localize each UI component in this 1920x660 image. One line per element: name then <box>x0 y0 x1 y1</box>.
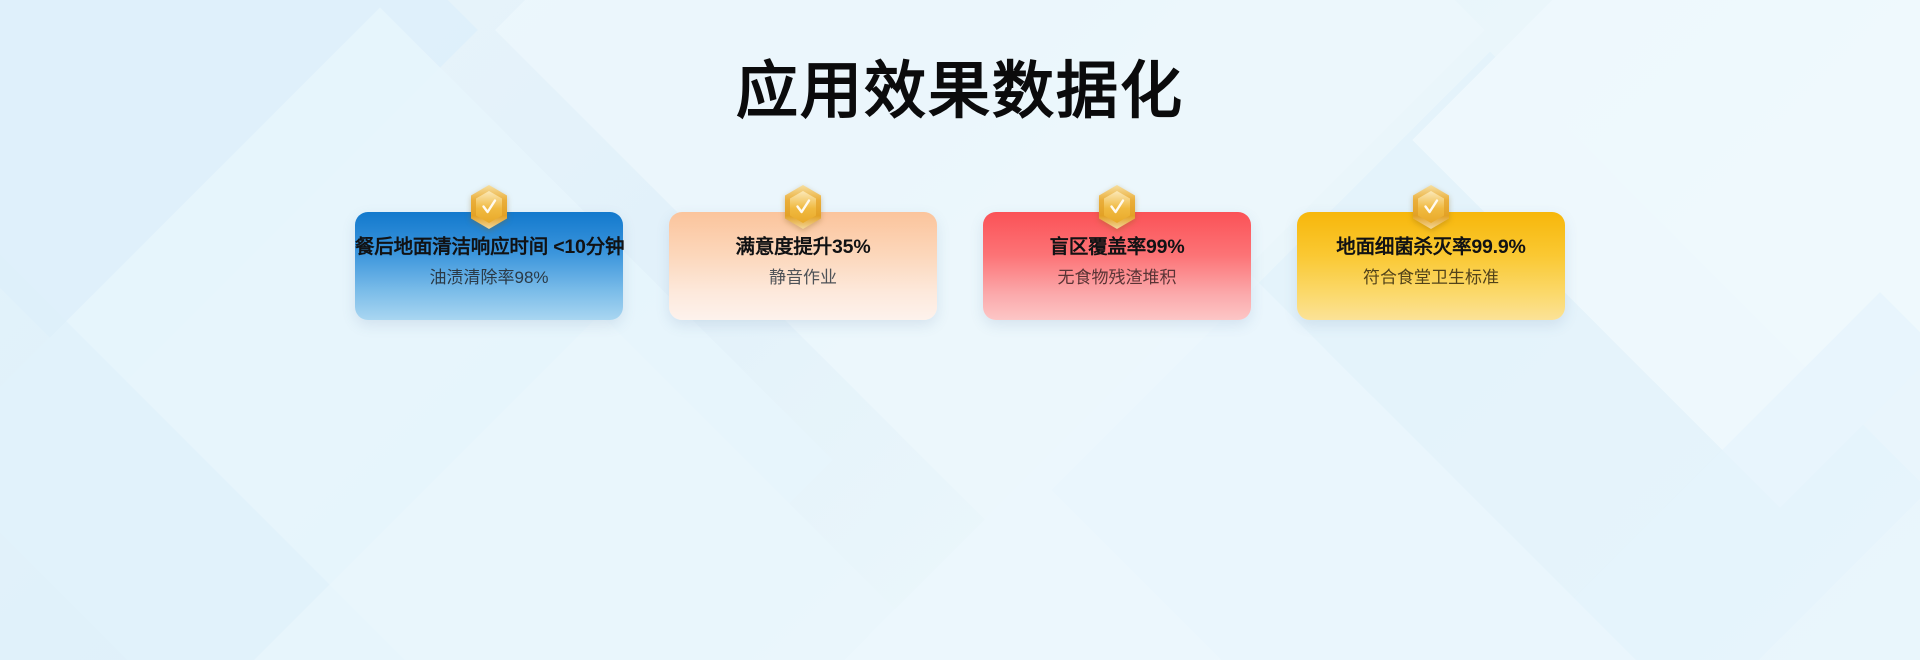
hexagon-check-icon <box>469 184 509 230</box>
hexagon-check-icon <box>783 184 823 230</box>
stat-card-subtitle: 油渍清除率98% <box>355 266 623 290</box>
hexagon-check-icon <box>1411 184 1451 230</box>
background-rhombus <box>1052 52 1920 660</box>
stat-card-title: 地面细菌杀灭率99.9% <box>1297 234 1565 260</box>
stat-card-title: 满意度提升35% <box>669 234 937 260</box>
background-rhombus <box>1512 292 1920 660</box>
stat-card-row: 餐后地面清洁响应时间 <10分钟 油渍清除率98% 满意度提升35% 静音作业 <box>0 212 1920 320</box>
stat-card-subtitle: 符合食堂卫生标准 <box>1297 266 1565 290</box>
stat-card-response-time[interactable]: 餐后地面清洁响应时间 <10分钟 油渍清除率98% <box>355 212 623 320</box>
hexagon-check-icon <box>1097 184 1137 230</box>
page-title: 应用效果数据化 <box>0 52 1920 132</box>
stat-card-subtitle: 无食物残渣堆积 <box>983 266 1251 290</box>
background-rhombus <box>844 264 1636 660</box>
background-rhombus <box>204 314 996 660</box>
promo-banner: 应用效果数据化 <box>0 0 1920 660</box>
stat-card-subtitle: 静音作业 <box>669 266 937 290</box>
stat-card-title: 盲区覆盖率99% <box>983 234 1251 260</box>
stat-card-blindspot-coverage[interactable]: 盲区覆盖率99% 无食物残渣堆积 <box>983 212 1251 320</box>
stat-card-title: 餐后地面清洁响应时间 <10分钟 <box>355 234 623 260</box>
stat-card-satisfaction[interactable]: 满意度提升35% 静音作业 <box>669 212 937 320</box>
stat-card-sterilization[interactable]: 地面细菌杀灭率99.9% 符合食堂卫生标准 <box>1297 212 1565 320</box>
